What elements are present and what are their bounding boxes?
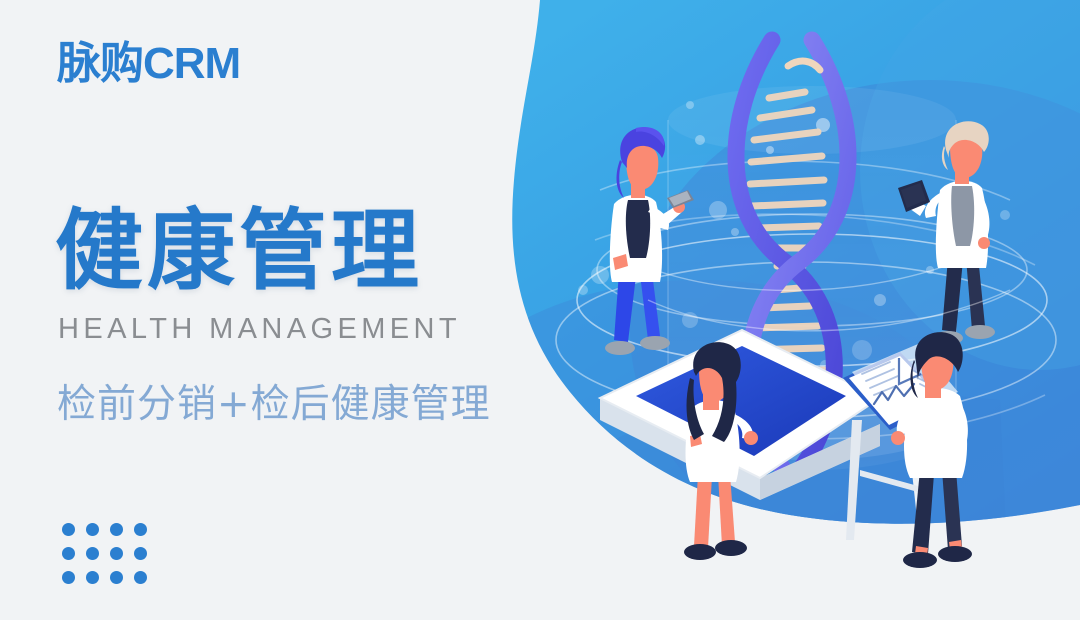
dot xyxy=(134,571,147,584)
health-management-banner: 脉购CRM 健康管理 HEALTH MANAGEMENT 检前分销+检后健康管理 xyxy=(0,0,1080,620)
dot xyxy=(62,571,75,584)
page-title-en: HEALTH MANAGEMENT xyxy=(58,313,461,346)
dot xyxy=(110,523,123,536)
dot xyxy=(62,523,75,536)
dot xyxy=(86,571,99,584)
dot-grid-decoration xyxy=(62,523,158,595)
dot xyxy=(110,571,123,584)
brand-logo-en: CRM xyxy=(143,39,240,88)
page-title-cn: 健康管理 xyxy=(55,205,423,297)
dot xyxy=(134,523,147,536)
dot xyxy=(86,523,99,536)
dot xyxy=(110,547,123,560)
dot xyxy=(86,547,99,560)
brand-logo-cn: 脉购 xyxy=(57,38,143,89)
page-subtitle: 检前分销+检后健康管理 xyxy=(57,373,491,429)
brand-logo[interactable]: 脉购CRM xyxy=(57,42,240,86)
dot xyxy=(134,547,147,560)
dot xyxy=(62,547,75,560)
background-illustration xyxy=(0,0,1080,620)
